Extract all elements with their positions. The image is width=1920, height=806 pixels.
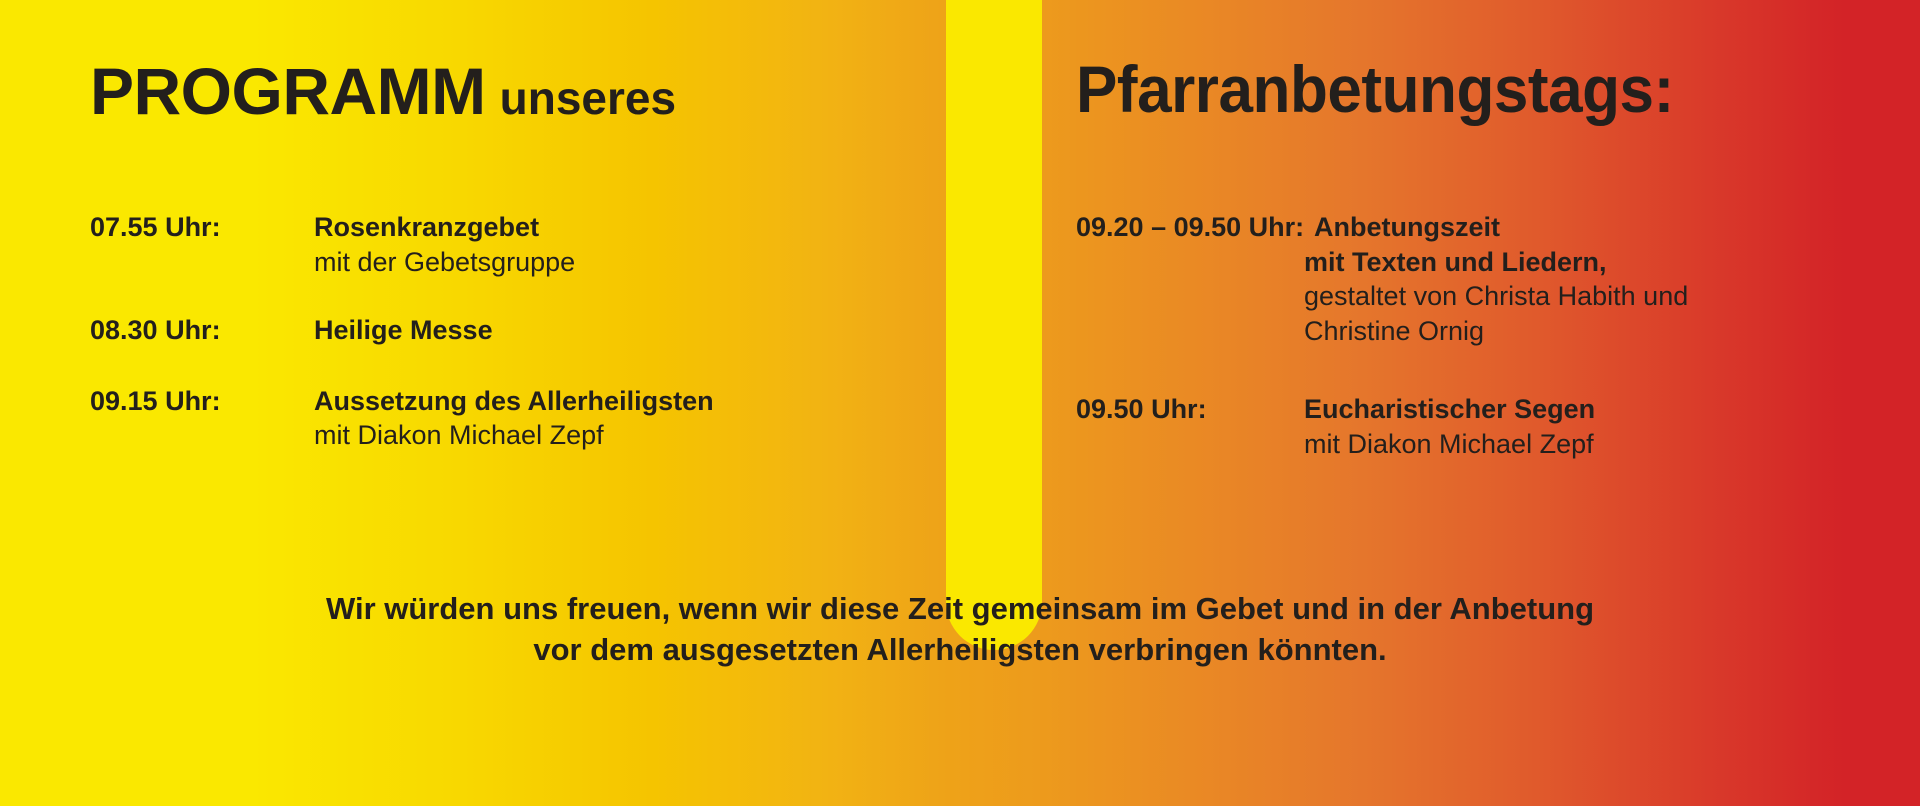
entry-title: Aussetzung des Allerheiligsten [314, 384, 946, 419]
closing-statement: Wir würden uns freuen, wenn wir diese Ze… [0, 588, 1920, 670]
left-schedule-list: 07.55 Uhr: Rosenkranzgebet mit der Gebet… [0, 210, 946, 453]
entry-time: 09.20 – 09.50 Uhr: [1076, 210, 1314, 245]
entry-time: 09.50 Uhr: [1076, 392, 1304, 427]
closing-line-2: vor dem ausgesetzten Allerheiligsten ver… [70, 629, 1850, 670]
entry-subtitle: mit Diakon Michael Zepf [1304, 427, 1920, 462]
entry-time: 09.15 Uhr: [90, 384, 314, 419]
spacer [0, 348, 946, 384]
schedule-entry: 08.30 Uhr: Heilige Messe [0, 313, 946, 348]
entry-body: Anbetungszeit [1314, 210, 1920, 245]
entry-title: Eucharistischer Segen [1304, 392, 1920, 427]
page-title-left: PROGRAMMunseres [90, 58, 676, 124]
page-title-right: Pfarranbetungstags: [1076, 56, 1674, 122]
poster-canvas: PROGRAMMunseres 07.55 Uhr: Rosenkranzgeb… [0, 0, 1920, 806]
schedule-entry: 09.15 Uhr: Aussetzung des Allerheiligste… [0, 384, 946, 453]
entry-body: mit Texten und Liedern, gestaltet von Ch… [1304, 245, 1920, 349]
entry-title: Heilige Messe [314, 313, 946, 348]
schedule-entry: 09.50 Uhr: Eucharistischer Segen mit Dia… [1042, 392, 1920, 461]
entry-title: Rosenkranzgebet [314, 210, 946, 245]
schedule-entry: 07.55 Uhr: Rosenkranzgebet mit der Gebet… [0, 210, 946, 279]
schedule-entry: 09.20 – 09.50 Uhr: Anbetungszeit [1042, 210, 1920, 245]
entry-body: Rosenkranzgebet mit der Gebetsgruppe [314, 210, 946, 279]
entry-subtitle-second-line: Christine Ornig [1304, 314, 1920, 349]
entry-time: 08.30 Uhr: [90, 313, 314, 348]
entry-subtitle: mit der Gebetsgruppe [314, 245, 946, 280]
schedule-entry-continuation: mit Texten und Liedern, gestaltet von Ch… [1042, 245, 1920, 349]
right-schedule-list: 09.20 – 09.50 Uhr: Anbetungszeit mit Tex… [1042, 210, 1920, 461]
entry-title: Anbetungszeit [1314, 210, 1920, 245]
center-divider-stripe [946, 0, 1042, 650]
entry-body: Eucharistischer Segen mit Diakon Michael… [1304, 392, 1920, 461]
entry-subtitle: gestaltet von Christa Habith und [1304, 279, 1920, 314]
entry-body: Aussetzung des Allerheiligsten mit Diako… [314, 384, 946, 453]
entry-time: 07.55 Uhr: [90, 210, 314, 245]
spacer [0, 279, 946, 313]
entry-body: Heilige Messe [314, 313, 946, 348]
page-title-main: PROGRAMM [90, 54, 486, 128]
closing-line-1: Wir würden uns freuen, wenn wir diese Ze… [70, 588, 1850, 629]
page-title-suffix: unseres [500, 72, 676, 124]
entry-title-second-line: mit Texten und Liedern, [1304, 245, 1920, 280]
spacer [1042, 348, 1920, 392]
entry-subtitle: mit Diakon Michael Zepf [314, 418, 946, 453]
